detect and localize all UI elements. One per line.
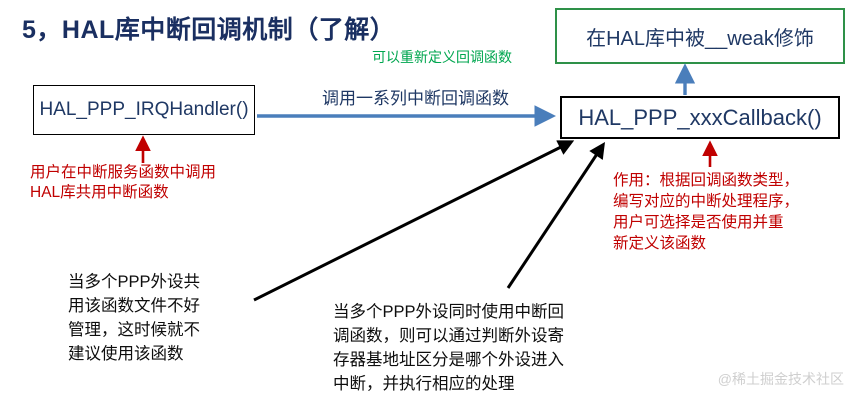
annotation-right-red: 作用：根据回调函数类型， 编写对应的中断处理程序， 用户可选择是否使用并重 新定…: [613, 170, 799, 254]
page-title: 5，HAL库中断回调机制（了解）: [22, 10, 395, 46]
irq-handler-box: HAL_PPP_IRQHandler(): [33, 85, 255, 135]
irq-handler-box-label: HAL_PPP_IRQHandler(): [39, 99, 248, 121]
call-chain-caption: 调用一系列中断回调函数: [322, 84, 509, 109]
black-arrow-middle: [508, 145, 603, 288]
black-arrow-left: [254, 142, 571, 300]
weak-modifier-box-label: 在HAL库中被__weak修饰: [586, 22, 814, 51]
annotation-bottom-left: 当多个PPP外设共 用该函数文件不好 管理，这时候就不 建议使用该函数: [68, 270, 200, 366]
annotation-left-red: 用户在中断服务函数中调用 HAL库共用中断函数: [30, 163, 216, 203]
watermark: @稀土掘金技术社区: [718, 369, 844, 389]
redefine-callback-note: 可以重新定义回调函数: [372, 47, 512, 67]
callback-box-label: HAL_PPP_xxxCallback(): [578, 105, 821, 131]
slide-canvas: 5，HAL库中断回调机制（了解） 在HAL库中被__weak修饰 可以重新定义回…: [0, 0, 862, 401]
callback-box: HAL_PPP_xxxCallback(): [560, 96, 840, 139]
annotation-bottom-middle: 当多个PPP外设同时使用中断回 调函数，则可以通过判断外设寄 存器基地址区分是哪…: [333, 300, 564, 396]
weak-modifier-box: 在HAL库中被__weak修饰: [555, 8, 845, 64]
